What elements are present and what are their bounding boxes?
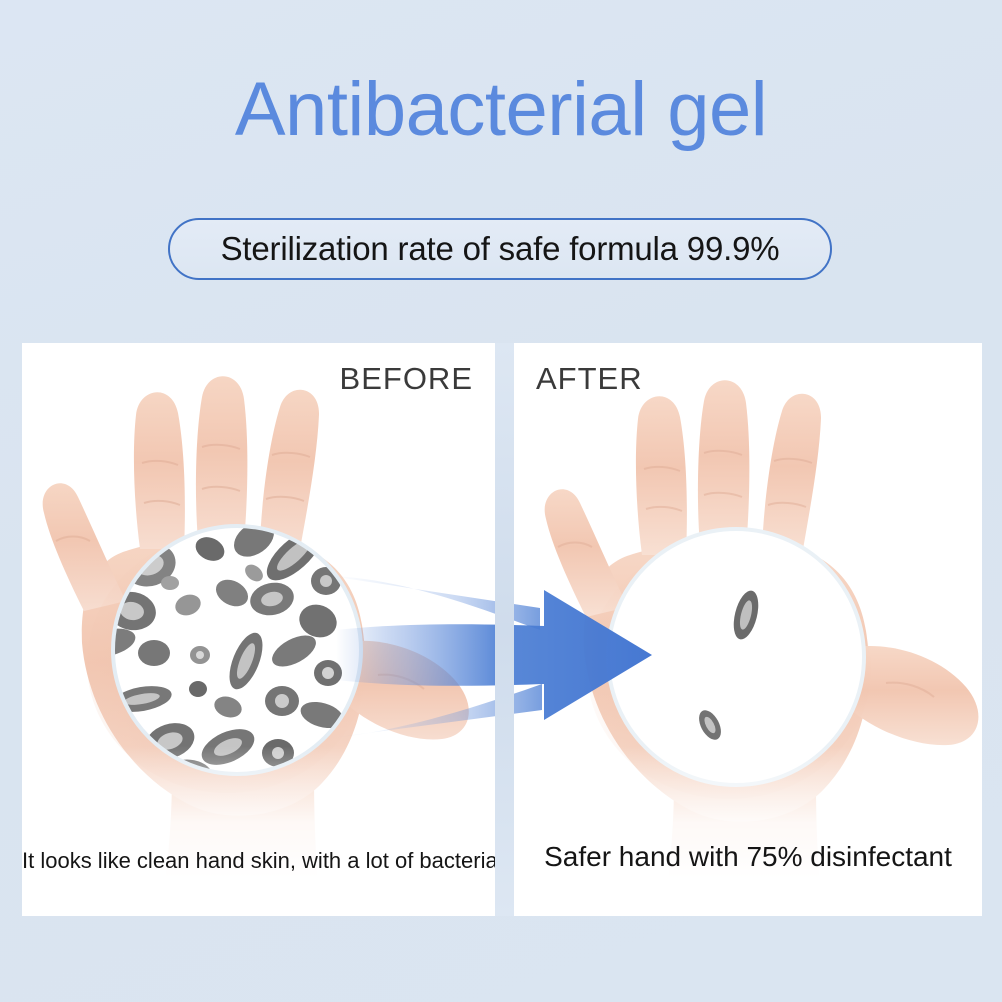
panel-after: AFTER Safer hand with 75% disinfectant [514,343,982,916]
hand-image-after [514,343,982,916]
product-banner: Antibacterial gel Sterilization rate of … [0,0,1002,1002]
page-title: Antibacterial gel [0,66,1002,153]
panel-label-before: BEFORE [340,361,473,397]
panel-label-after: AFTER [536,361,643,397]
subtitle-pill: Sterilization rate of safe formula 99.9% [168,218,832,280]
panel-caption-after: Safer hand with 75% disinfectant [514,841,982,873]
panel-divider [495,343,514,916]
panel-before: BEFORE It looks like clean hand skin, wi… [22,343,495,916]
panel-caption-before: It looks like clean hand skin, with a lo… [22,848,495,874]
hand-illustration-before [22,343,495,916]
hand-image-before [22,343,495,916]
subtitle-text: Sterilization rate of safe formula 99.9% [221,230,780,268]
hand-illustration-after [514,343,982,916]
